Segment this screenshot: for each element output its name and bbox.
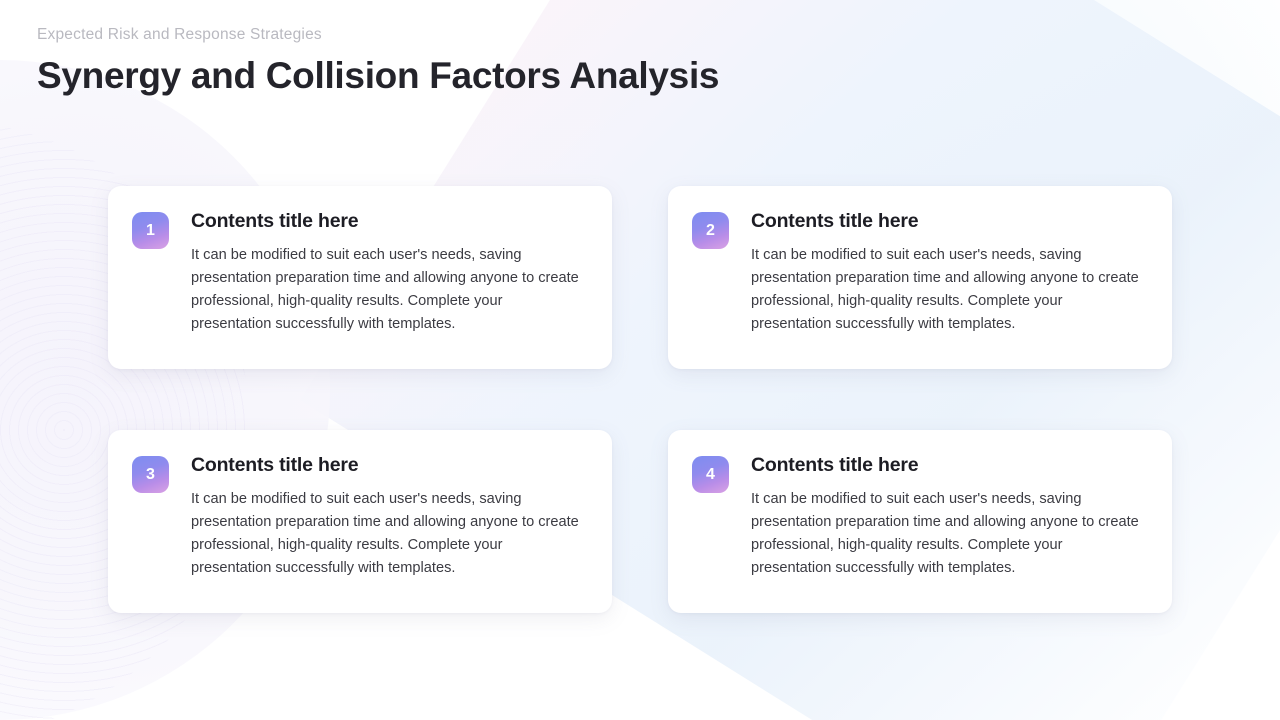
card-description: It can be modified to suit each user's n… xyxy=(191,488,584,580)
card-body: Contents title here It can be modified t… xyxy=(191,454,584,580)
content-card-grid: 1 Contents title here It can be modified… xyxy=(108,186,1172,613)
card-body: Contents title here It can be modified t… xyxy=(191,210,584,336)
card-title: Contents title here xyxy=(751,454,1144,477)
slide-header: Expected Risk and Response Strategies Sy… xyxy=(37,24,937,97)
card-number-badge: 2 xyxy=(692,212,729,249)
card-description: It can be modified to suit each user's n… xyxy=(751,488,1144,580)
card-description: It can be modified to suit each user's n… xyxy=(751,244,1144,336)
card-title: Contents title here xyxy=(191,210,584,233)
card-number-badge: 3 xyxy=(132,456,169,493)
card-title: Contents title here xyxy=(191,454,584,477)
card-number-badge: 4 xyxy=(692,456,729,493)
content-card-1[interactable]: 1 Contents title here It can be modified… xyxy=(108,186,612,369)
card-body: Contents title here It can be modified t… xyxy=(751,454,1144,580)
card-number-badge: 1 xyxy=(132,212,169,249)
content-card-3[interactable]: 3 Contents title here It can be modified… xyxy=(108,430,612,613)
card-description: It can be modified to suit each user's n… xyxy=(191,244,584,336)
card-title: Contents title here xyxy=(751,210,1144,233)
slide-kicker: Expected Risk and Response Strategies xyxy=(37,24,937,46)
content-card-2[interactable]: 2 Contents title here It can be modified… xyxy=(668,186,1172,369)
content-card-4[interactable]: 4 Contents title here It can be modified… xyxy=(668,430,1172,613)
card-body: Contents title here It can be modified t… xyxy=(751,210,1144,336)
page-title: Synergy and Collision Factors Analysis xyxy=(37,55,937,98)
